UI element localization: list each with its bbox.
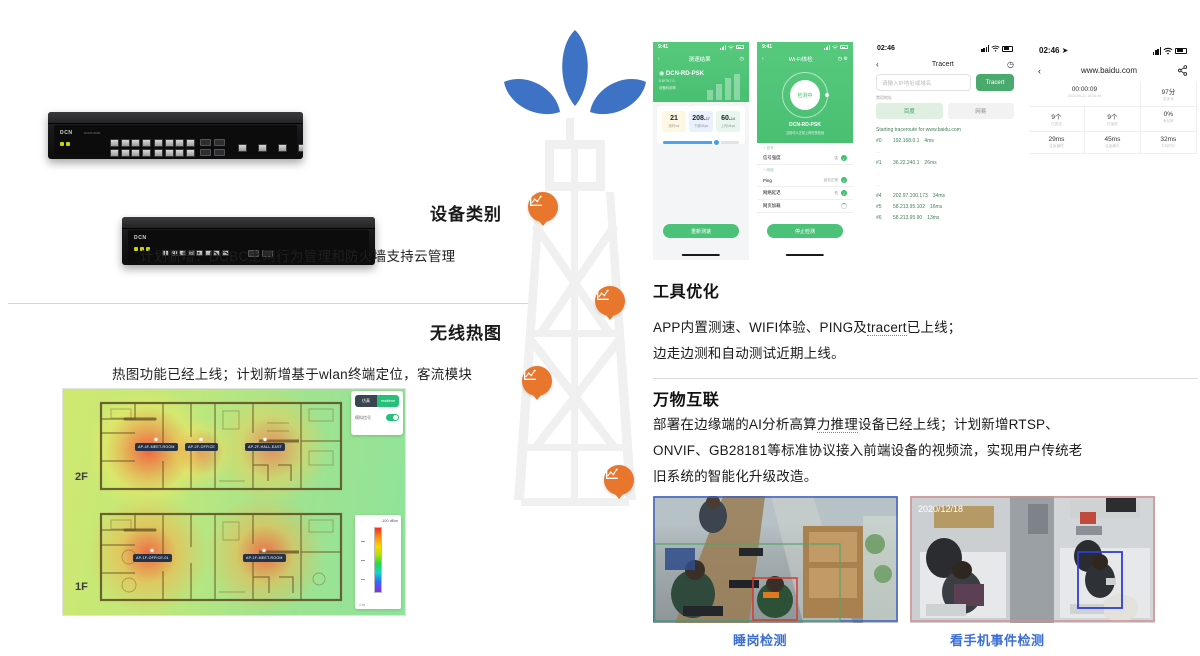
slide-canvas: DCN DCRS-5650 (0, 0, 1200, 656)
hop-index: #4 (876, 191, 888, 202)
wifiexp-ssid-block: DCN-RD-PSK 当前可以正常上网在快检测 (757, 118, 853, 143)
metrics-card-group: 21 延时ms 208.17 下载Mbps 60.14 上传Mbps (657, 106, 745, 144)
signal-bars-icon (1153, 47, 1161, 55)
nav-actions[interactable]: ◷ ⚙ (838, 56, 848, 62)
heatmap-control-panel: 仿真 realtime 模拟信号 (351, 391, 403, 435)
check-row[interactable]: 信号强度 强 ✓ (757, 152, 853, 165)
stop-test-button[interactable]: 停止检测 (767, 224, 843, 238)
tools-line-1: APP内置测速、WIFI体验、PING及tracert已上线； (653, 315, 962, 341)
heatmap-mode-segmented-control[interactable]: 仿真 realtime (355, 395, 399, 407)
metric-label: 延时ms (664, 123, 684, 128)
stat-label: 已发送 (1029, 122, 1084, 127)
bar-chart-decoration (705, 74, 745, 100)
wifi-dot-icon: ◉ (659, 71, 664, 77)
device-section-caption: 计划新增：DCBC上网行为管理和防火墙支持云管理 (140, 245, 455, 265)
hop-ip: 202.97.100.173 (893, 191, 928, 202)
stat-value: 45ms (1085, 136, 1140, 143)
check-label: 网页加载 (763, 203, 781, 209)
switch-model-text: DCRS-5650 (84, 131, 100, 135)
line-chart-icon (604, 465, 620, 481)
stat-label: 往返最短 (1029, 144, 1084, 149)
check-done-icon: ✓ (841, 155, 847, 161)
iot-heading-text: 万物互联 (653, 392, 719, 409)
legend-color-bar (374, 527, 382, 593)
switch-port-bank-c (154, 139, 195, 147)
stat-label: 平均时长 (1141, 144, 1196, 149)
stat-cell: 45ms 往返最长 (1085, 132, 1141, 154)
left-column: DCN DCRS-5650 (0, 0, 540, 656)
switch-led-cluster (60, 142, 70, 146)
hop-latency: 13ms (927, 213, 939, 224)
check-row[interactable]: Ping 延迟正常 ✓ (757, 174, 853, 187)
simulated-signal-toggle[interactable] (386, 414, 399, 421)
stat-cell: 0% 丢包率 (1141, 107, 1197, 132)
stat-cell: 00:00:09 2023-09-21 14:26:09 (1029, 82, 1141, 107)
stat-cell: 97分 总评分 (1141, 82, 1197, 107)
ring-progress-dot (825, 93, 829, 97)
stat-cell: 9个 已接收 (1085, 107, 1141, 132)
battery-icon (1175, 48, 1187, 54)
check-row[interactable]: 网页加载 (757, 200, 853, 213)
switch-sfp-slot-1 (200, 139, 211, 146)
heatmap-section-caption: 热图功能已经上线；计划新增基于wlan终端定位，客流模块 (112, 363, 472, 383)
simulated-signal-label: 模拟信号 (355, 415, 371, 421)
tab-baidu[interactable]: 百度 (876, 103, 943, 119)
legend-tick-marks (361, 527, 371, 593)
stat-cell: 9个 已发送 (1029, 107, 1085, 132)
tools-line1-tracert: tracert (867, 320, 907, 336)
wifiexp-ssid: DCN-RD-PSK (761, 122, 849, 128)
wifiexp-check-list: ⚡ 信号 信号强度 强 ✓ ⚡ 网络 Ping 延迟正常 ✓ (757, 143, 853, 213)
status-bar: 9:41 (653, 42, 749, 52)
phone-wifi-experience: 9:41 ‹ Wi-Fi体检 ◷ ⚙ 检测中 (757, 42, 853, 260)
heatmap-legend: -100 dBm 1 m (355, 515, 401, 609)
metric-unit: 17 (706, 117, 710, 121)
stat-label: 往返最长 (1085, 144, 1140, 149)
line-chart-icon (522, 366, 538, 382)
metric-value: 60.14 (718, 115, 738, 122)
wireless-heatmap-screenshot: 2F 1F AP-4F-MEET-ROOM AP-2F-OFFICE AP-2F… (62, 388, 406, 616)
tools-line1-part-c: 已上线； (907, 320, 962, 335)
ai-photo-caption-1: 睡岗检测 (733, 630, 787, 649)
history-icon[interactable]: ◷ (1007, 60, 1014, 69)
switch-front-face: DCN DCRS-5650 (54, 125, 297, 155)
svg-text:2020/12/18: 2020/12/18 (918, 504, 963, 514)
iot-line1-part-a: 部署在边缘端的AI分析高算 (653, 417, 817, 432)
back-icon[interactable]: ‹ (762, 56, 764, 62)
tracert-nav: ‹ Tracert ◷ (869, 55, 1021, 74)
metric-card: 208.17 下载Mbps (689, 111, 713, 132)
stat-value: 9个 (1085, 111, 1140, 121)
section-divider (8, 303, 528, 304)
back-icon[interactable]: ‹ (658, 56, 660, 62)
status-bar: 02:46 ➤ (1029, 42, 1197, 59)
stat-label: 丢包率 (1141, 119, 1196, 124)
battery-icon (736, 45, 744, 49)
phone-speed-test: 9:41 ‹ 测速结果 ◷ ◉ DCN-RD-PSK (653, 42, 749, 260)
tower-svg (500, 0, 650, 540)
check-result: 延迟正常 ✓ (824, 177, 847, 183)
metric-value: 21 (664, 115, 684, 122)
status-icons (981, 45, 1013, 52)
tools-line-2: 边走边测和自动测试近期上线。 (653, 341, 962, 367)
retest-button[interactable]: 重新测速 (663, 224, 739, 238)
status-time: 02:46 (1039, 46, 1059, 55)
battery-icon (840, 45, 848, 49)
log-hop-row: ... (876, 180, 1014, 191)
phone-web-test: 02:46 ➤ ‹ www.baidu.com (1029, 42, 1197, 207)
status-bar: 9:41 (757, 42, 853, 52)
hop-latency: 4ms (924, 136, 933, 147)
wifiexp-header: 9:41 ‹ Wi-Fi体检 ◷ ⚙ 检测中 (757, 42, 853, 143)
mode-simulate-option[interactable]: 仿真 (355, 395, 377, 407)
wifi-icon (991, 45, 1000, 52)
check-row[interactable]: 网络延迟 低 ✓ (757, 187, 853, 200)
network-switch-top-image: DCN DCRS-5650 (48, 112, 303, 159)
hop-latency: 26ms (924, 158, 936, 169)
metric-label: 上传Mbps (718, 123, 738, 128)
slider-knob[interactable] (712, 138, 721, 147)
analytics-badge-3[interactable] (522, 366, 552, 396)
speed-slider[interactable] (663, 141, 739, 144)
simulated-signal-row: 模拟信号 (355, 414, 399, 421)
check-label: 信号强度 (763, 155, 781, 161)
tools-line1-part-a: APP内置测速、WIFI体验、PING及 (653, 320, 867, 335)
check-value: 低 (834, 191, 838, 196)
hop-latency: 34ms (933, 191, 945, 202)
status-time-group: 02:46 ➤ (1039, 46, 1068, 55)
switch-rear-port-bank (238, 144, 303, 152)
signal-bars-icon (981, 45, 989, 52)
log-hop-row: #4202.97.100.17334ms (876, 191, 1014, 202)
ai-photo-sleep-detection (653, 496, 898, 623)
tools-heading-text: 工具优化 (653, 284, 719, 301)
tracert-input[interactable]: 请输入IP地址或域名 (876, 74, 971, 91)
stat-cell: 32ms 平均时长 (1141, 132, 1197, 154)
metric-number: 60. (721, 115, 731, 122)
status-icons (720, 45, 744, 50)
line-chart-icon (528, 192, 544, 208)
group-signal-text: 信号 (767, 146, 774, 150)
wifiexp-nav: ‹ Wi-Fi体检 ◷ ⚙ (757, 52, 853, 66)
hop-ip: 36.22.240.1 (893, 158, 919, 169)
wifi-icon (832, 45, 838, 50)
floor-label-1f: 1F (75, 581, 88, 593)
tracert-log: Starting traceroute for www.baidu.com #0… (869, 119, 1021, 224)
stat-value: 29ms (1029, 136, 1084, 143)
tools-section-body: APP内置测速、WIFI体验、PING及tracert已上线； 边走边测和自动测… (653, 315, 962, 367)
speedtest-nav-title: 测速结果 (689, 55, 711, 63)
speedtest-header: 9:41 ‹ 测速结果 ◷ ◉ DCN-RD-PSK (653, 42, 749, 102)
hop-index: #6 (876, 213, 888, 224)
common-address-tabs: 百度 网易 (869, 103, 1021, 119)
check-result (841, 203, 847, 209)
iot-line-1: 部署在边缘端的AI分析高算力推理设备已经上线；计划新增RTSP、 (653, 412, 1083, 438)
ai-photo-caption-2: 看手机事件检测 (950, 630, 1045, 649)
status-time: 9:41 (658, 44, 668, 50)
stat-value: 32ms (1141, 136, 1196, 143)
home-indicator (682, 254, 720, 256)
cell-tower-illustration (500, 0, 650, 540)
wifiexp-ssid-sub: 当前可以正常上网在快检测 (761, 130, 849, 135)
analytics-badge-2[interactable] (595, 286, 625, 316)
heatmap-caption-text: 热图功能已经上线；计划新增基于wlan终端定位，客流模块 (112, 367, 472, 382)
tracert-search-row: 请输入IP地址或域名 Tracert (869, 74, 1021, 91)
speedtest-nav: ‹ 测速结果 ◷ (653, 52, 749, 66)
log-hop-row: #136.22.240.126ms (876, 158, 1014, 169)
iot-line-2: ONVIF、GB28181等标准协议接入前端设备的视频流，实现用户传统老 (653, 438, 1083, 464)
tab-netease[interactable]: 网易 (948, 103, 1015, 119)
check-done-icon: ✓ (841, 177, 847, 183)
hop-ip: 58.213.95.90 (893, 213, 922, 224)
switch-port-bank-b (110, 149, 151, 157)
log-hop-row: #658.213.95.9013ms (876, 213, 1014, 224)
dcn-logo-2: DCN (134, 235, 147, 241)
metric-label: 下载Mbps (691, 123, 711, 128)
status-time: 9:41 (762, 44, 772, 50)
right-column: 9:41 ‹ 测速结果 ◷ ◉ DCN-RD-PSK (645, 0, 1200, 656)
stat-label: 2023-09-21 14:26:09 (1029, 94, 1140, 98)
log-hop-row: ... (876, 169, 1014, 180)
webtest-url-title: www.baidu.com (1081, 66, 1137, 75)
hop-latency: 16ms (930, 202, 942, 213)
switch-lid-2 (122, 217, 375, 229)
iot-line-3: 旧系统的智能化升级改造。 (653, 464, 1083, 490)
hop-index: #0 (876, 136, 888, 147)
tools-iot-divider (653, 378, 1198, 379)
ssid-name: DCN-RD-PSK (666, 71, 704, 77)
group-network-text: 网络 (767, 168, 774, 172)
check-label: 网络延迟 (763, 190, 781, 196)
log-hop-row: ... (876, 147, 1014, 158)
office-scene-1 (653, 496, 898, 623)
switch-lid (48, 112, 303, 124)
wifiexp-nav-title: Wi-Fi体检 (789, 55, 813, 63)
analytics-badge-1[interactable] (528, 192, 558, 222)
log-header: Starting traceroute for www.baidu.com (876, 125, 1014, 136)
check-value: 强 (834, 156, 838, 161)
check-result: 低 ✓ (834, 190, 847, 196)
check-done-icon: ✓ (841, 190, 847, 196)
stat-label: 已接收 (1085, 122, 1140, 127)
line-chart-icon (595, 286, 611, 302)
stat-cell: 29ms 往返最短 (1029, 132, 1085, 154)
metric-cards: 21 延时ms 208.17 下载Mbps 60.14 上传Mbps (657, 106, 745, 137)
switch-sfp-slot-4 (214, 149, 225, 156)
office-scene-2: 2020/12/18 (910, 496, 1155, 623)
ap-marker[interactable]: AP-2F-HALL-EAST (245, 443, 285, 451)
iot-line1-part-c: 设备已经上线；计划新增RTSP、 (858, 417, 1059, 432)
legend-title: -100 dBm (358, 518, 398, 523)
metric-number: 21 (670, 115, 678, 122)
hop-index: #1 (876, 158, 888, 169)
wifi-icon (728, 45, 734, 50)
signal-bars-icon (824, 45, 830, 50)
metric-card: 21 延时ms (662, 111, 686, 132)
iot-section-body: 部署在边缘端的AI分析高算力推理设备已经上线；计划新增RTSP、 ONVIF、G… (653, 412, 1083, 490)
back-icon[interactable]: ‹ (876, 60, 879, 69)
iot-line1-highlight: 力推理 (817, 417, 858, 433)
ring-status-text: 检测中 (790, 80, 820, 110)
stat-label: 总评分 (1141, 97, 1196, 102)
hop-index: #5 (876, 202, 888, 213)
history-icon[interactable]: ◷ (740, 56, 744, 62)
metric-value: 208.17 (691, 115, 711, 122)
status-time: 02:46 (877, 45, 895, 52)
status-bar: 02:46 (869, 42, 1021, 55)
ap-marker[interactable]: AP-1F-OFFICE-01 (133, 554, 172, 562)
tools-section-heading: 工具优化 (653, 278, 719, 302)
ssid-block: ◉ DCN-RD-PSK 5.8*75.7.0 设备利用率 (653, 66, 749, 102)
signal-bars-icon (720, 45, 726, 50)
back-icon[interactable]: ‹ (1038, 66, 1041, 76)
webtest-stats-grid: 00:00:09 2023-09-21 14:26:09 97分 总评分 9个 … (1029, 82, 1197, 154)
legend-scale-note: 1 m (359, 603, 365, 607)
switch-sfp-slot-2 (214, 139, 225, 146)
stat-value: 97分 (1141, 86, 1196, 96)
check-value: 延迟正常 (824, 178, 838, 183)
ai-photo-phone-detection: 2020/12/18 (910, 496, 1155, 623)
group-label-signal: ⚡ 信号 (757, 143, 853, 152)
ap-marker[interactable]: AP-4F-MEET-ROOM (135, 443, 178, 451)
check-result: 强 ✓ (834, 155, 847, 161)
switch-sfp-slot-3 (200, 149, 211, 156)
metric-number: 208. (692, 115, 706, 122)
device-section-heading: 设备类别 (430, 200, 502, 225)
heatmap-section-heading: 无线热图 (430, 319, 502, 344)
share-icon[interactable] (1177, 65, 1188, 76)
log-hop-row: #0192.168.0.14ms (876, 136, 1014, 147)
stat-value: 00:00:09 (1029, 86, 1140, 93)
hop-ip: 58.213.95.102 (893, 202, 925, 213)
metric-card: 60.14 上传Mbps (716, 111, 740, 132)
status-icons (1153, 47, 1187, 55)
signal-wave-petals (504, 30, 646, 114)
stat-value: 0% (1141, 111, 1196, 118)
home-indicator (786, 254, 824, 256)
check-label: Ping (763, 178, 772, 183)
ap-marker[interactable]: AP-2F-OFFICE (185, 443, 218, 451)
tracert-run-button[interactable]: Tracert (976, 74, 1014, 91)
dcn-logo: DCN (60, 130, 73, 136)
location-arrow-icon: ➤ (1062, 46, 1069, 55)
battery-icon (1002, 46, 1013, 52)
common-address-label: 常用地址 (869, 91, 1021, 103)
iot-section-heading: 万物互联 (653, 386, 719, 410)
metric-unit: 14 (731, 117, 735, 121)
wifi-icon (1163, 47, 1173, 55)
status-icons (824, 45, 848, 50)
loading-spinner-icon (841, 203, 847, 209)
stat-value: 9个 (1029, 111, 1084, 121)
slider-fill (663, 141, 715, 144)
floor-label-2f: 2F (75, 471, 88, 483)
analytics-badge-4[interactable] (604, 465, 634, 495)
scan-progress-ring: 检测中 (782, 72, 828, 118)
group-label-network: ⚡ 网络 (757, 165, 853, 174)
log-hop-row: #558.213.95.10216ms (876, 202, 1014, 213)
switch-port-bank-d (154, 149, 195, 157)
switch-port-bank-a (110, 139, 151, 147)
ap-marker[interactable]: AP-1F-MEET-ROOM (243, 554, 286, 562)
mode-realtime-option[interactable]: realtime (377, 395, 399, 407)
webtest-nav: ‹ www.baidu.com (1029, 59, 1197, 82)
phone-tracert: 02:46 ‹ Tracert ◷ 请输入IP地址或域名 Tracert 常用地… (869, 42, 1021, 248)
tracert-nav-title: Tracert (932, 61, 954, 68)
hop-ip: 192.168.0.1 (893, 136, 919, 147)
